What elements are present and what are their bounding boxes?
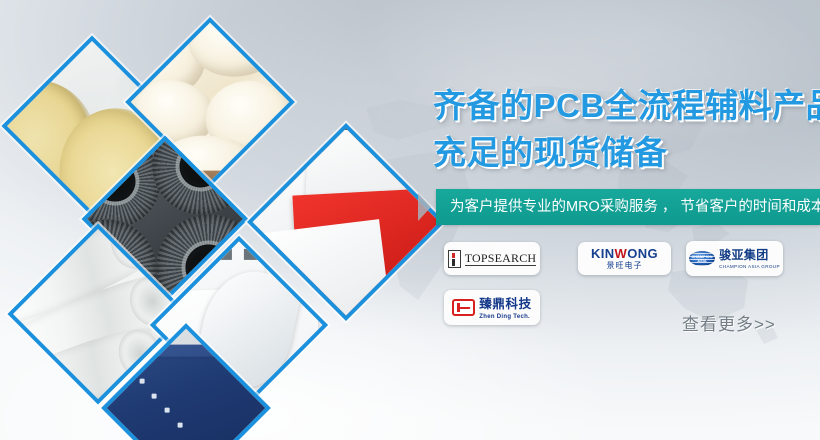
logo-champion-asia-sublabel: CHAMPION ASIA GROUP [719, 265, 780, 270]
product-collage: JIE [0, 0, 440, 440]
headline-line-2: 充足的现货储备 [433, 129, 819, 176]
logo-kinwong-label-w: W [615, 246, 628, 261]
logo-kinwong-label-c: ONG [627, 246, 658, 261]
logo-topsearch-label: TOPSEARCH [465, 252, 537, 266]
logo-topsearch[interactable]: TOPSEARCH [444, 242, 540, 275]
logo-zhen-ding-sublabel: Zhen Ding Tech. [479, 314, 531, 320]
view-more-link[interactable]: 查看更多>> [682, 310, 776, 335]
logo-kinwong-sublabel: 景旺电子 [591, 262, 658, 270]
topsearch-mark-icon [448, 250, 461, 268]
logo-champion-asia[interactable]: CHAMPION ASIA 骏亚集团 CHAMPION ASIA GROUP [686, 241, 783, 276]
chevron-right-icon [418, 193, 431, 221]
headline-line-1: 齐备的PCB全流程辅料产品、 [433, 87, 820, 124]
logo-kinwong[interactable]: KINWONG 景旺电子 [578, 242, 671, 275]
logo-zhen-ding[interactable]: 臻鼎科技 Zhen Ding Tech. [444, 290, 540, 325]
globe-icon: CHAMPION ASIA [689, 251, 715, 266]
zhending-mark-icon [452, 299, 475, 316]
banner-content: 齐备的PCB全流程辅料产品、 充足的现货储备 为客户提供专业的MRO采购服务 ，… [430, 0, 820, 440]
logo-champion-asia-label: 骏亚集团 [719, 248, 769, 262]
hero-banner: JIE 齐备的PCB全流程辅料产品、 充足的现货储备 为客户提供专业的MRO采购… [0, 0, 820, 440]
globe-icon-label: CHAMPION ASIA [689, 255, 715, 263]
banner-headline: 齐备的PCB全流程辅料产品、 充足的现货储备 [433, 82, 819, 176]
logo-zhen-ding-label: 臻鼎科技 [479, 297, 531, 311]
banner-subtitle: 为客户提供专业的MRO采购服务 ， 节省客户的时间和成本 [436, 189, 820, 225]
logo-kinwong-label-a: KIN [591, 246, 615, 261]
